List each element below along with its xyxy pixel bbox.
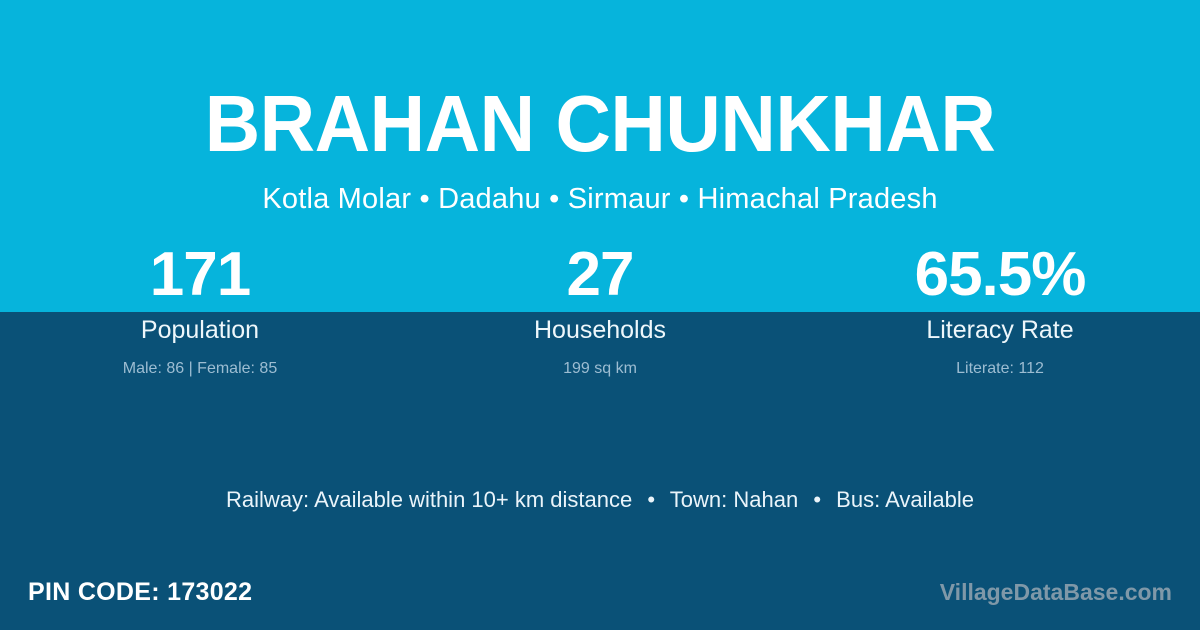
stats-row: 171 Population Male: 86 | Female: 85 27 … xyxy=(0,238,1200,381)
infra-town: Town: Nahan xyxy=(670,487,798,512)
bullet-separator-icon: • xyxy=(638,484,664,516)
breadcrumb: Kotla Molar • Dadahu • Sirmaur • Himacha… xyxy=(0,180,1200,218)
stat-population: 171 Population Male: 86 | Female: 85 xyxy=(0,238,400,381)
pin-code: PIN CODE: 173022 xyxy=(28,576,252,608)
stat-sub-literacy-rate: Literate: 112 xyxy=(800,357,1200,381)
infrastructure-line: Railway: Available within 10+ km distanc… xyxy=(0,484,1200,516)
stat-value-households: 27 xyxy=(400,238,800,312)
stat-label-population: Population xyxy=(0,313,400,347)
stat-literacy-rate: 65.5% Literacy Rate Literate: 112 xyxy=(800,238,1200,381)
page-title: BRAHAN CHUNKHAR xyxy=(24,78,1176,170)
village-info-card: BRAHAN CHUNKHAR Kotla Molar • Dadahu • S… xyxy=(0,0,1200,630)
stat-sub-households: 199 sq km xyxy=(400,357,800,381)
stat-households: 27 Households 199 sq km xyxy=(400,238,800,381)
site-watermark: VillageDataBase.com xyxy=(940,576,1172,608)
stat-value-population: 171 xyxy=(0,238,400,312)
stat-value-literacy-rate: 65.5% xyxy=(800,238,1200,312)
stat-sub-population: Male: 86 | Female: 85 xyxy=(0,357,400,381)
bullet-separator-icon: • xyxy=(804,484,830,516)
stat-label-households: Households xyxy=(400,313,800,347)
infra-bus: Bus: Available xyxy=(836,487,974,512)
infra-railway: Railway: Available within 10+ km distanc… xyxy=(226,487,632,512)
stat-label-literacy-rate: Literacy Rate xyxy=(800,313,1200,347)
